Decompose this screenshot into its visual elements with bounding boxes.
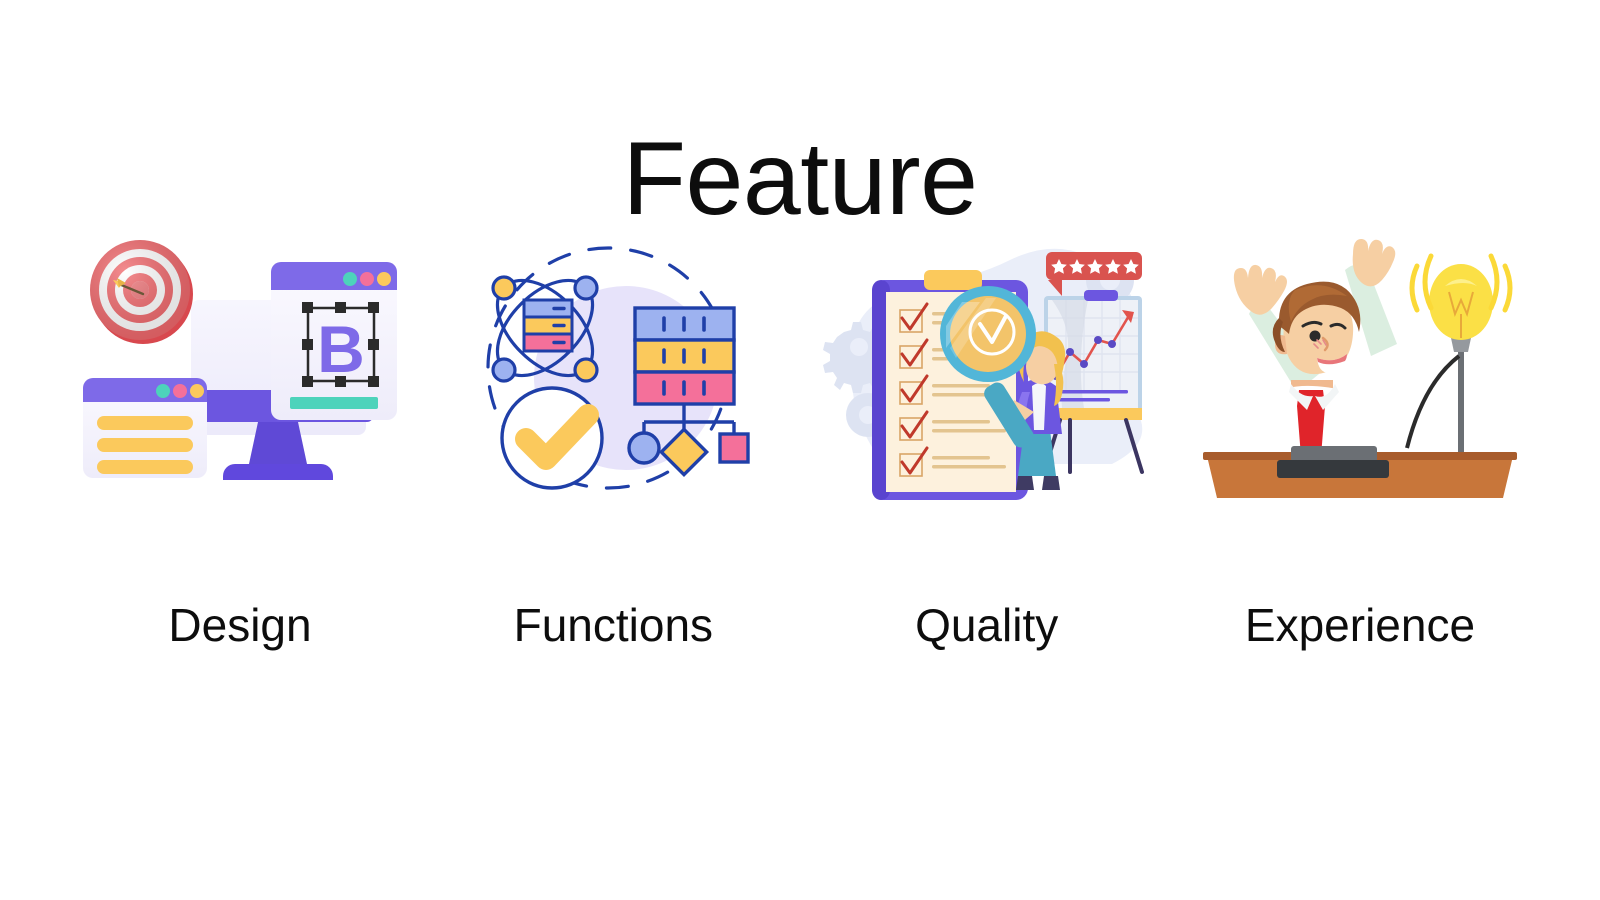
window-dot-yellow (190, 384, 204, 398)
feature-label-experience: Experience (1245, 602, 1475, 648)
experience-illustration (1195, 240, 1525, 510)
window-dot-pink (173, 384, 187, 398)
feature-label-quality: Quality (915, 602, 1058, 648)
atom-node-yellow (493, 277, 515, 299)
desk-icon (1203, 446, 1517, 498)
svg-text:B: B (317, 312, 365, 386)
page-title: Feature (0, 118, 1600, 241)
window-dot-teal (156, 384, 170, 398)
target-dartboard-icon (90, 240, 193, 344)
window-dot-pink (360, 272, 374, 286)
feature-card-functions[interactable]: Functions (433, 240, 793, 680)
functions-illustration (448, 240, 778, 510)
browser-window-list-icon[interactable] (83, 378, 207, 478)
atom-node-blue (575, 277, 597, 299)
idea-lightbulb-icon (1407, 256, 1510, 462)
feature-card-quality[interactable]: Quality (807, 240, 1167, 680)
quality-illustration (822, 240, 1152, 510)
atom-node-blue (493, 359, 515, 381)
feature-row: B (60, 240, 1540, 680)
feature-label-functions: Functions (514, 602, 713, 648)
window-dot-teal (343, 272, 357, 286)
browser-window-letter-b-icon[interactable]: B (271, 262, 397, 420)
cheering-person-icon (1234, 239, 1397, 482)
window-dot-yellow (377, 272, 391, 286)
feature-card-experience[interactable]: Experience (1180, 240, 1540, 680)
slide-canvas: Feature (0, 0, 1600, 900)
checkmark-circle-icon (502, 388, 602, 488)
design-illustration: B (75, 240, 405, 510)
feature-label-design: Design (168, 602, 311, 648)
feature-card-design[interactable]: B (60, 240, 420, 680)
atom-node-yellow (575, 359, 597, 381)
